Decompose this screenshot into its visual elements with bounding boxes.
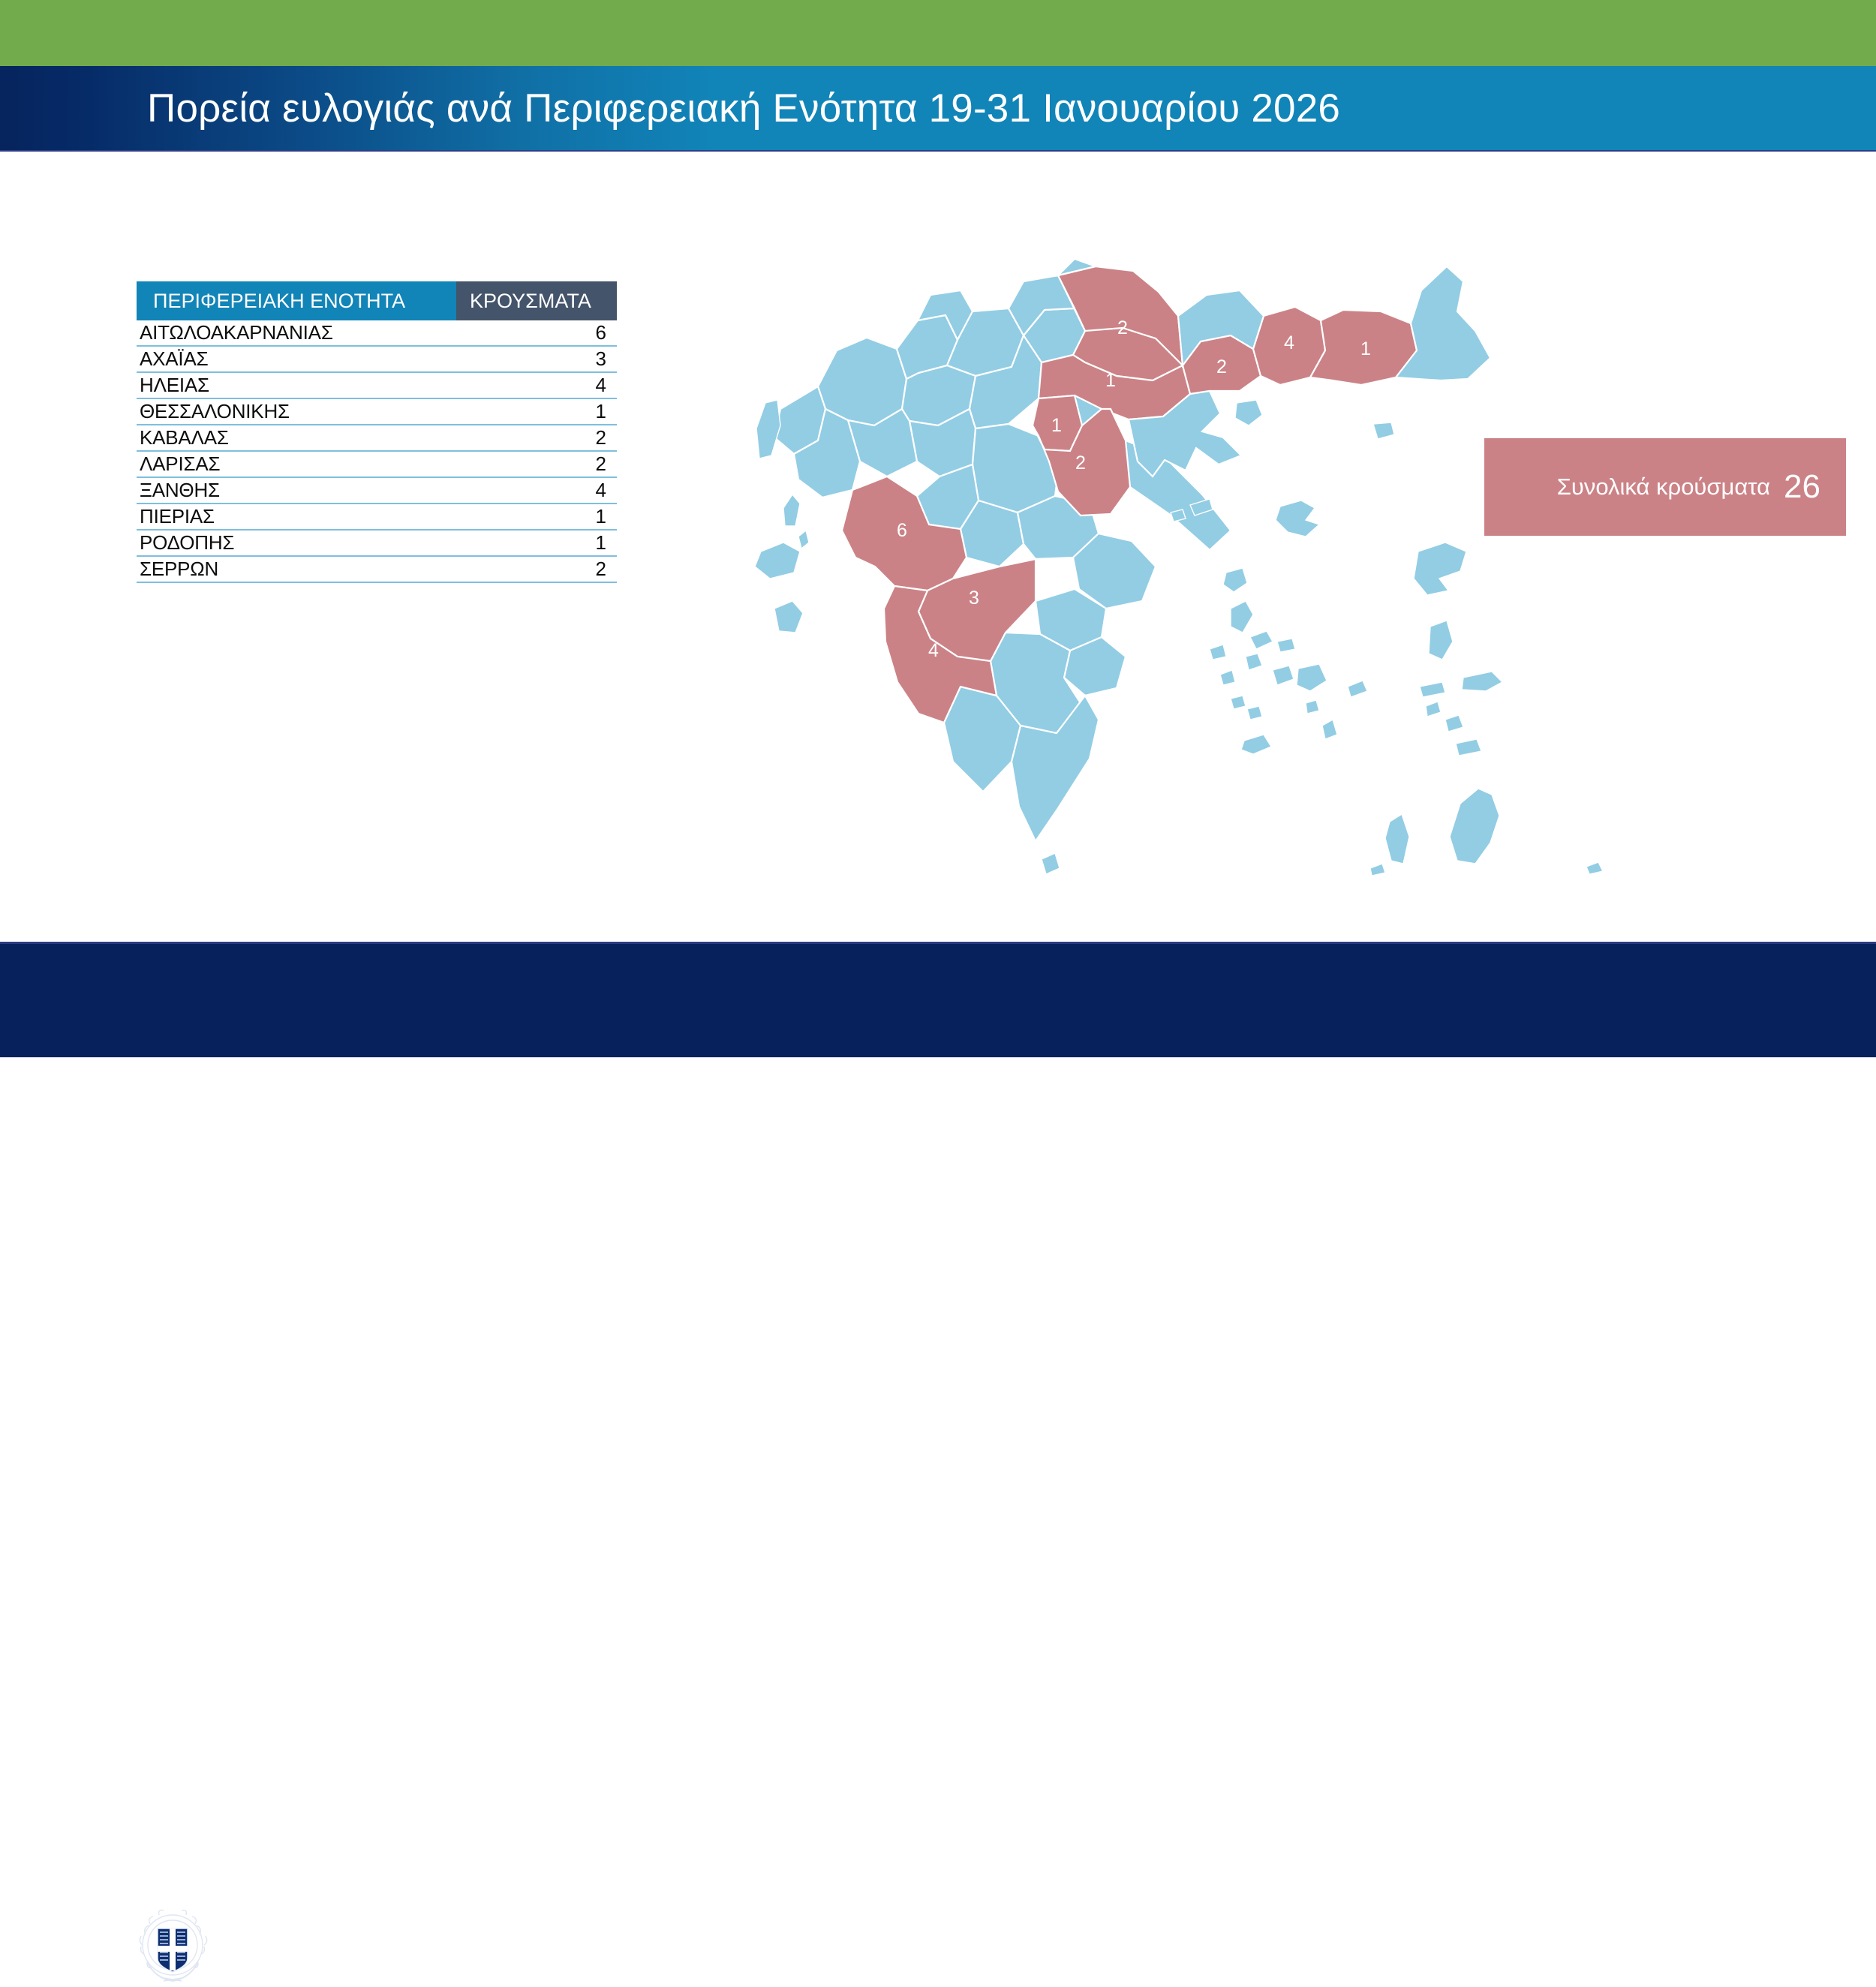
cell-cases: 3 [456,346,617,372]
island-kalymnos [1445,715,1463,732]
greece-choropleth-map: 2 1 2 4 1 1 2 6 3 4 [705,161,1771,927]
map-label-achaia: 3 [969,588,979,609]
page-title: Πορεία ευλογιάς ανά Περιφερειακή Ενότητα… [147,66,1340,150]
column-header-cases: ΚΡΟΥΣΜΑΤΑ [456,281,617,320]
map-label-rodopi: 1 [1360,338,1371,359]
map-label-serres: 2 [1117,317,1128,338]
island-syros [1246,654,1262,670]
island-samothraki [1373,422,1394,439]
island-lesvos [1414,543,1466,595]
island-samos [1462,672,1502,691]
island-chios [1429,621,1453,660]
island-skyros [1223,568,1247,592]
cell-cases: 2 [456,556,617,582]
cell-region: ΛΑΡΙΣΑΣ [137,451,456,477]
island-tinos [1250,631,1273,649]
cell-cases: 6 [456,320,617,346]
island-milos [1241,735,1271,754]
island-thasos [1235,400,1262,425]
cell-region: ΠΙΕΡΙΑΣ [137,504,456,530]
cell-cases: 2 [456,451,617,477]
ministry-line-1: ΕΛΛΗΝΙΚΗ ΔΗΜΟΚΡΑΤΙΑ [230,1913,468,1931]
table-row: ΡΟΔΟΠΗΣ1 [137,530,617,556]
cell-region: ΑΧΑΪΑΣ [137,346,456,372]
table-row: ΗΛΕΙΑΣ4 [137,372,617,398]
cell-cases: 2 [456,425,617,451]
cell-region: ΚΑΒΑΛΑΣ [137,425,456,451]
table-row: ΘΕΣΣΑΛΟΝΙΚΗΣ1 [137,398,617,425]
cell-region: ΘΕΣΣΑΛΟΝΙΚΗΣ [137,398,456,425]
map-label-pieria: 1 [1051,415,1062,436]
map-label-larisa: 2 [1075,452,1086,473]
island-ithaki [798,531,809,549]
map-label-aitoloakarnania: 6 [897,520,907,541]
island-limnos [1276,501,1319,537]
ministry-line-2: Υπουργείο Αγροτικής Ανάπτυξης [230,1934,468,1955]
region-evros [1396,266,1490,380]
greek-coat-of-arms-emblem [132,1906,213,1987]
table-header-row: ΠΕΡΙΦΕΡΕΙΑΚΗ ΕΝΟΤΗΤΑ ΚΡΟΥΣΜΑΤΑ [137,281,617,320]
island-paros [1273,666,1294,685]
title-band: Πορεία ευλογιάς ανά Περιφερειακή Ενότητα… [0,66,1876,150]
island-lefkada [783,494,800,526]
cell-region: ΡΟΔΟΠΗΣ [137,530,456,556]
map-label-ileia: 4 [928,640,939,661]
cell-cases: 1 [456,398,617,425]
island-karpathos [1385,814,1409,864]
island-andros [1231,601,1253,633]
map-label-thessaloniki: 1 [1105,370,1116,391]
cell-cases: 4 [456,372,617,398]
island-kythnos [1220,670,1235,685]
island-amorgos [1348,681,1367,697]
island-kasos [1370,864,1385,876]
cell-region: ΗΛΕΙΑΣ [137,372,456,398]
map-label-kavala: 2 [1216,356,1227,377]
island-ios [1306,700,1319,714]
total-cases-value: 26 [1784,468,1820,506]
table-row: ΞΑΝΘΗΣ4 [137,477,617,504]
island-kefalonia [755,543,800,579]
cell-cases: 1 [456,504,617,530]
island-sifnos [1247,706,1262,720]
island-serifos [1231,696,1246,709]
committee-line-1: Εθνική Επιστημονική Επιτροπή [1550,1924,1813,1946]
island-rhodes [1450,789,1499,864]
island-mykonos [1277,639,1295,652]
cell-region: ΣΕΡΡΩΝ [137,556,456,582]
column-header-region: ΠΕΡΙΦΕΡΕΙΑΚΗ ΕΝΟΤΗΤΑ [137,281,456,320]
page-footer: ΕΛΛΗΝΙΚΗ ΔΗΜΟΚΡΑΤΙΑ Υπουργείο Αγροτικής … [0,942,1876,1057]
ministry-line-3: και Τροφίμων [230,1955,468,1977]
table-row: ΣΕΡΡΩΝ2 [137,556,617,582]
cell-cases: 4 [456,477,617,504]
committee-identity: Εθνική Επιστημονική Επιτροπή Διαχείρισης… [1550,1924,1813,1967]
table-row: ΚΑΒΑΛΑΣ2 [137,425,617,451]
cell-region: ΑΙΤΩΛΟΑΚΑΡΝΑΝΙΑΣ [137,320,456,346]
table-row: ΑΙΤΩΛΟΑΚΑΡΝΑΝΙΑΣ6 [137,320,617,346]
committee-line-2: Διαχείρισης και Ελέγχου της Ευλογιάς [1550,1946,1813,1967]
table-row: ΠΙΕΡΙΑΣ1 [137,504,617,530]
map-label-xanthi: 4 [1284,332,1294,353]
table-row: ΛΑΡΙΣΑΣ2 [137,451,617,477]
island-ikaria [1420,682,1445,697]
table-row: ΑΧΑΪΑΣ3 [137,346,617,372]
regional-cases-table: ΠΕΡΙΦΕΡΕΙΑΚΗ ΕΝΟΤΗΤΑ ΚΡΟΥΣΜΑΤΑ ΑΙΤΩΛΟΑΚΑ… [137,281,617,583]
island-santorini [1322,720,1337,739]
island-patmos [1426,702,1441,717]
green-accent-band [0,0,1876,66]
ministry-identity: ΕΛΛΗΝΙΚΗ ΔΗΜΟΚΡΑΤΙΑ Υπουργείο Αγροτικής … [230,1913,468,1977]
island-naxos [1297,664,1327,691]
island-kos [1456,739,1481,756]
island-kastellorizo [1586,862,1603,874]
island-zakynthos [774,601,803,633]
island-kythira [1042,853,1060,874]
island-kea [1210,645,1226,660]
island-corfu [756,400,780,458]
cell-region: ΞΑΝΘΗΣ [137,477,456,504]
cell-cases: 1 [456,530,617,556]
